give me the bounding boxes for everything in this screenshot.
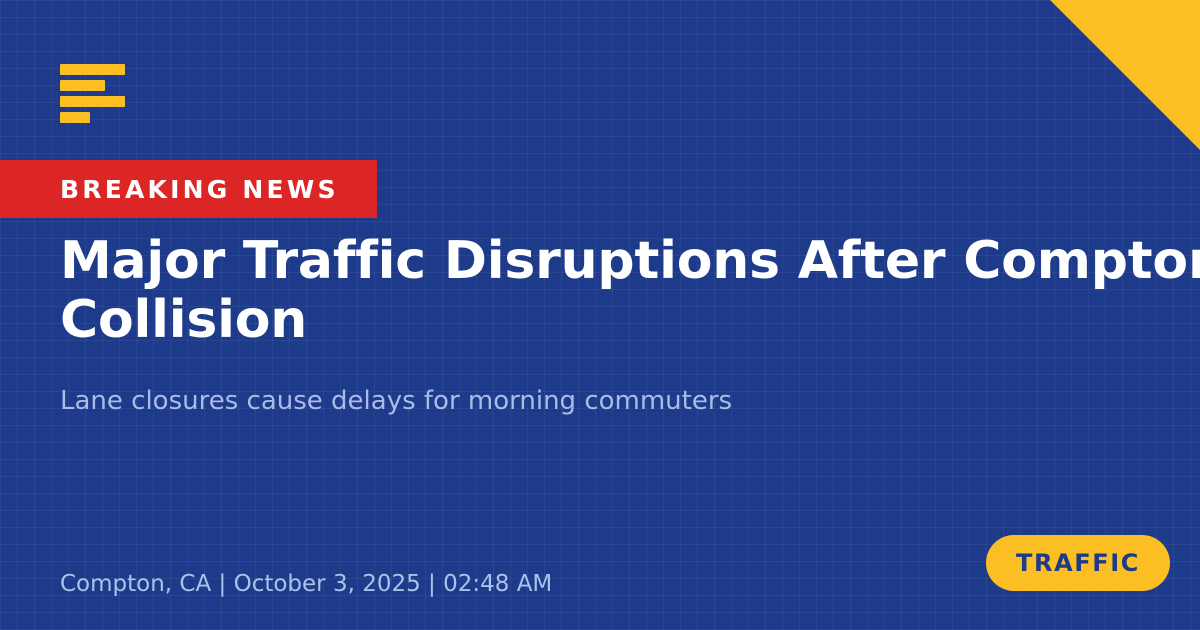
breaking-news-card: BREAKING NEWS Major Traffic Disruptions …	[0, 0, 1200, 630]
category-badge-label: TRAFFIC	[1016, 551, 1140, 575]
corner-wedge-decoration	[1050, 0, 1200, 150]
footer-meta-line: Compton, CA | October 3, 2025 | 02:48 AM	[60, 570, 552, 600]
logo-bar-3	[60, 96, 125, 107]
breaking-news-label: BREAKING NEWS	[60, 177, 339, 202]
logo-bar-2	[60, 80, 105, 91]
breaking-news-banner: BREAKING NEWS	[0, 160, 377, 218]
headline-text: Major Traffic Disruptions After Compton …	[60, 232, 1200, 351]
brand-bars-logo	[60, 64, 125, 123]
category-badge: TRAFFIC	[986, 535, 1170, 591]
logo-bar-4	[60, 112, 90, 123]
logo-bar-1	[60, 64, 125, 75]
subtitle-text: Lane closures cause delays for morning c…	[60, 385, 1060, 419]
